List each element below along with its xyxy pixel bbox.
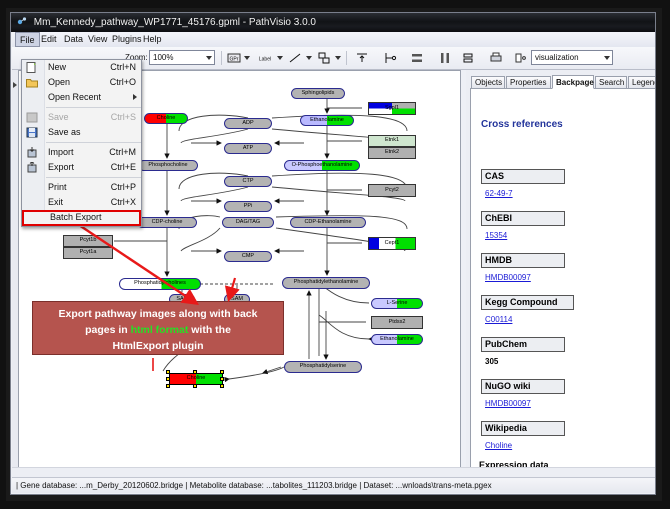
xref-value-hmdb[interactable]: HMDB00097 <box>485 273 531 282</box>
node-label: Pcyt1b <box>80 238 97 244</box>
svg-text:GPr: GPr <box>230 57 239 63</box>
selection-handle-nw[interactable] <box>166 370 170 374</box>
shape-dropdown-icon[interactable] <box>335 56 341 60</box>
screen-root: Mm_Kennedy_pathway_WP1771_45176.gpml - P… <box>0 0 670 509</box>
node-label: CDP-Ethanolamine <box>304 220 351 226</box>
node-label: Phosphatidylserine <box>300 364 346 370</box>
window-titlebar: Mm_Kennedy_pathway_WP1771_45176.gpml - P… <box>11 13 655 32</box>
menu-data[interactable]: Data <box>60 33 87 46</box>
node-label: Choline <box>157 116 176 122</box>
menu-item-label: Export <box>48 162 74 172</box>
export-icon <box>26 162 38 173</box>
node-cept1[interactable]: Cept1 <box>368 237 416 250</box>
callout-line-2: pages in html format with the <box>33 322 283 338</box>
xref-value-wikipedia[interactable]: Choline <box>485 441 512 450</box>
selection-handle-w[interactable] <box>166 377 170 381</box>
node-ethanolamine-top[interactable]: Ethanolamine <box>300 115 354 126</box>
folder-open-icon <box>26 77 38 88</box>
node-label: ATP <box>243 146 253 152</box>
xref-section-kegg: Kegg Compound <box>481 295 574 310</box>
menu-item-save: Save Ctrl+S <box>22 110 141 125</box>
chevron-right-icon <box>133 94 137 100</box>
node-label: DAG/TAG <box>236 220 260 226</box>
stack-tool-icon[interactable] <box>461 51 475 65</box>
save-icon <box>26 112 38 123</box>
menu-edit[interactable]: Edit <box>37 33 61 46</box>
menu-item-accel: Ctrl+P <box>111 180 136 195</box>
xref-value-cas[interactable]: 62-49-7 <box>485 189 513 198</box>
statusbar-text: | Gene database: ...m_Derby_20120602.bri… <box>16 481 492 490</box>
node-etnk2[interactable]: Etnk2 <box>368 147 416 159</box>
tab-backpage[interactable]: Backpage <box>552 75 594 89</box>
selection-handle-e[interactable] <box>220 377 224 381</box>
chevron-down-icon-2 <box>604 56 610 60</box>
node-label: Ethanolamine <box>310 118 344 124</box>
node-choline-top[interactable]: Choline <box>144 113 188 124</box>
canvas-horizontal-scrollbar[interactable] <box>12 467 656 477</box>
selection-handle-se[interactable] <box>220 384 224 388</box>
toolbar-separator-2 <box>346 51 347 65</box>
node-label: Ethanolamine <box>380 337 414 343</box>
node-label: ADP <box>242 121 253 127</box>
node-sphingolipids[interactable]: Sphingolipids <box>291 88 345 99</box>
node-etnk1[interactable]: Etnk1 <box>368 135 416 147</box>
node-label: Phosphatidylcholines <box>134 281 186 287</box>
menu-item-accel: Ctrl+E <box>111 160 136 175</box>
menu-separator-2 <box>46 142 141 143</box>
callout-line2-post: with the <box>188 324 231 336</box>
save-as-icon <box>26 127 38 138</box>
node-pcyt2[interactable]: Pcyt2 <box>368 184 416 197</box>
menu-item-export[interactable]: Export Ctrl+E <box>22 160 141 175</box>
node-label: Sgpl1 <box>385 106 399 112</box>
node-label: Cept1 <box>385 241 400 247</box>
annotation-callout: Export pathway images along with back pa… <box>32 301 284 355</box>
shape-tool-icon[interactable] <box>317 51 331 65</box>
menu-item-new[interactable]: New Ctrl+N <box>22 60 141 75</box>
menu-help[interactable]: Help <box>139 33 166 46</box>
node-label: Etnk2 <box>385 150 399 156</box>
node-phosphocholine[interactable]: Phosphocholine <box>138 160 198 171</box>
node-dag-tag[interactable]: DAG/TAG <box>222 217 274 228</box>
selection-handle-ne[interactable] <box>220 370 224 374</box>
node-label: Phosphatidylethanolamine <box>294 280 359 286</box>
menu-separator-3 <box>46 177 141 178</box>
node-label: O-Phosphoethanolamine <box>292 163 353 169</box>
menu-item-label: Batch Export <box>50 212 102 222</box>
visualization-combo[interactable]: visualization <box>531 50 613 65</box>
menu-item-label: Save as <box>48 127 81 137</box>
gene-product-dropdown-icon[interactable] <box>244 56 250 60</box>
menu-item-accel: Ctrl+O <box>110 75 136 90</box>
xref-section-pubchem: PubChem <box>481 337 565 352</box>
xref-value-nugo[interactable]: HMDB00097 <box>485 399 531 408</box>
menu-item-label: Open Recent <box>48 92 101 102</box>
node-ppi[interactable]: PPi <box>224 201 272 212</box>
xref-section-cas: CAS <box>481 169 565 184</box>
chevron-down-icon <box>206 56 212 60</box>
node-label: Choline <box>187 376 206 382</box>
pathvisio-icon <box>17 14 27 24</box>
import-icon <box>26 147 38 158</box>
node-sgpl1[interactable]: Sgpl1 <box>368 102 416 115</box>
node-label: Pcyt2 <box>385 188 399 194</box>
svg-text:Label: Label <box>259 57 271 63</box>
menu-item-label: Import <box>48 147 74 157</box>
menu-item-accel: Ctrl+S <box>111 110 136 125</box>
node-label: Ptdss2 <box>389 320 406 326</box>
statusbar: | Gene database: ...m_Derby_20120602.bri… <box>12 477 656 493</box>
pathvisio-window: Mm_Kennedy_pathway_WP1771_45176.gpml - P… <box>10 12 656 495</box>
menu-separator-1 <box>46 107 141 108</box>
zoom-combo[interactable]: 100% <box>149 50 215 65</box>
selection-handle-s[interactable] <box>193 384 197 388</box>
node-label: CTP <box>243 179 254 185</box>
align-left-tool-icon[interactable] <box>383 51 397 65</box>
toolbar-separator <box>221 51 222 65</box>
label-tool-icon[interactable]: Label <box>255 51 275 65</box>
visualization-value: visualization <box>535 53 579 62</box>
menu-item-import[interactable]: Import Ctrl+M <box>22 145 141 160</box>
cross-references-heading: Cross references <box>481 119 563 130</box>
selection-handle-sw[interactable] <box>166 384 170 388</box>
xref-value-kegg[interactable]: C00114 <box>485 315 512 324</box>
side-panel: Objects Properties Backpage Search Legen… <box>466 70 656 475</box>
new-file-icon <box>26 62 38 73</box>
callout-line2-highlight: html format <box>131 324 189 336</box>
node-ctp[interactable]: CTP <box>224 176 272 187</box>
gene-product-tool-icon[interactable]: GPr <box>227 51 241 65</box>
node-phosphatidylcholines[interactable]: Phosphatidylcholines <box>119 278 201 290</box>
node-l-serine[interactable]: L-Serine <box>371 298 423 309</box>
xref-section-nugo: NuGO wiki <box>481 379 565 394</box>
line-dropdown-icon[interactable] <box>306 56 312 60</box>
node-label: CDP-choline <box>152 220 183 226</box>
callout-line2-pre: pages in <box>85 324 131 336</box>
menu-item-open[interactable]: Open Ctrl+O <box>22 75 141 90</box>
menu-item-save-as[interactable]: Save as <box>22 125 141 140</box>
node-ptdss2[interactable]: Ptdss2 <box>371 316 423 329</box>
window-title-text: Mm_Kennedy_pathway_WP1771_45176.gpml - P… <box>34 17 316 28</box>
menu-item-label: Save <box>48 112 69 122</box>
menu-file[interactable]: File <box>15 32 40 47</box>
menu-item-label: New <box>48 62 66 72</box>
xref-section-chebi: ChEBI <box>481 211 565 226</box>
line-tool-icon[interactable] <box>288 51 302 65</box>
node-label: Phosphocholine <box>148 163 187 169</box>
node-o-phosphoethanolamine[interactable]: O-Phosphoethanolamine <box>284 160 360 171</box>
callout-line-1: Export pathway images along with back <box>33 306 283 322</box>
menu-item-batch-export[interactable]: Batch Export <box>22 210 141 226</box>
legend-tool-icon[interactable] <box>514 51 528 65</box>
menu-item-exit[interactable]: Exit Ctrl+X <box>22 195 141 210</box>
menu-item-label: Open <box>48 77 70 87</box>
selection-handle-n[interactable] <box>193 370 197 374</box>
menu-item-accel: Ctrl+N <box>110 60 136 75</box>
node-label: CMP <box>242 254 254 260</box>
xref-value-chebi[interactable]: 15354 <box>485 231 507 240</box>
node-pcyt1b[interactable]: Pcyt1b <box>63 235 113 247</box>
menu-item-open-recent[interactable]: Open Recent <box>22 90 141 105</box>
node-label: L-Serine <box>387 301 408 307</box>
distribute-horizontal-tool-icon[interactable] <box>438 51 452 65</box>
node-adp[interactable]: ADP <box>224 118 272 129</box>
xref-value-pubchem: 305 <box>485 357 498 366</box>
label-dropdown-icon[interactable] <box>277 56 283 60</box>
menu-item-accel: Ctrl+M <box>109 145 136 160</box>
node-label: PPi <box>244 204 253 210</box>
menubar: File Edit Data View Plugins Help <box>12 32 656 48</box>
xref-section-hmdb: HMDB <box>481 253 565 268</box>
menu-item-accel: Ctrl+X <box>111 195 136 210</box>
node-cmp[interactable]: CMP <box>224 251 272 262</box>
callout-line-3: HtmlExport plugin <box>33 338 283 354</box>
menu-item-label: Print <box>48 182 67 192</box>
node-pcyt1a[interactable]: Pcyt1a <box>63 247 113 259</box>
node-label: Sphingolipids <box>302 91 335 97</box>
node-label: Etnk1 <box>385 138 399 144</box>
node-atp[interactable]: ATP <box>224 143 272 154</box>
zoom-value: 100% <box>153 53 173 62</box>
backpage-content: Cross references CAS 62-49-7 ChEBI 15354… <box>470 88 656 473</box>
node-cdp-ethanolamine[interactable]: CDP-Ethanolamine <box>290 217 366 228</box>
file-menu-dropdown: New Ctrl+N Open Ctrl+O Open Recent Save … <box>21 59 142 227</box>
xref-section-wikipedia: Wikipedia <box>481 421 565 436</box>
menu-item-label: Exit <box>48 197 63 207</box>
align-top-tool-icon[interactable] <box>355 51 369 65</box>
node-cdp-choline[interactable]: CDP-choline <box>137 217 197 228</box>
node-phosphatidylethanolamine[interactable]: Phosphatidylethanolamine <box>282 277 370 289</box>
menu-item-print[interactable]: Print Ctrl+P <box>22 180 141 195</box>
distribute-vertical-tool-icon[interactable] <box>410 51 424 65</box>
print-tool-icon[interactable] <box>489 51 503 65</box>
node-ethanolamine-bottom[interactable]: Ethanolamine <box>371 334 423 345</box>
panel-tabs: Objects Properties Backpage Search Legen… <box>466 75 656 89</box>
node-phosphatidylserine[interactable]: Phosphatidylserine <box>284 361 362 373</box>
node-label: Pcyt1a <box>80 250 97 256</box>
